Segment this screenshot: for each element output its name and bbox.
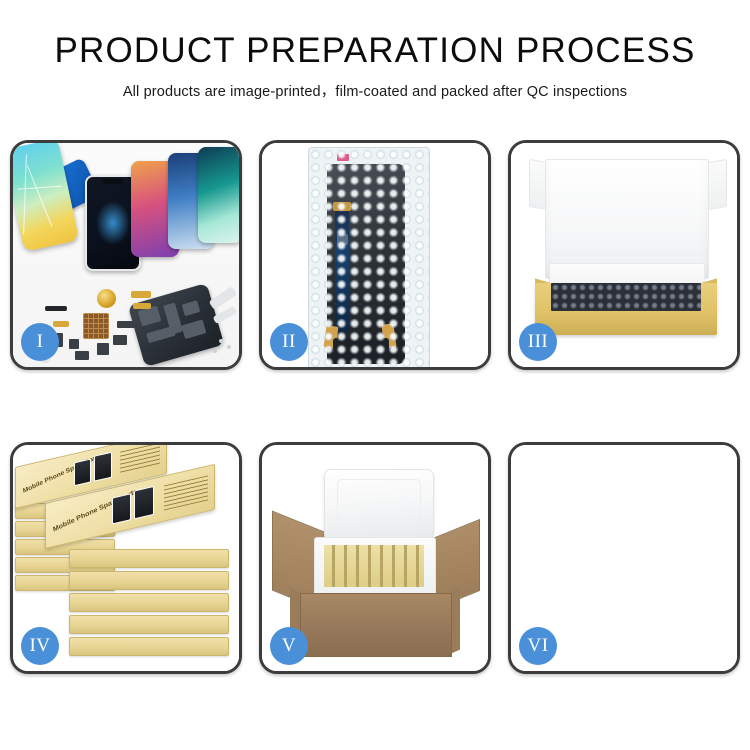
bubble-wrapped-contents [551,283,701,311]
teal-phone-screen [198,147,239,243]
step-badge-3: III [519,323,557,361]
connector-part [69,339,79,349]
box-window-image [74,458,91,486]
box-spec-lines [164,475,208,510]
vibrator-part [97,343,109,355]
step-badge-5: V [270,627,308,665]
bubble-wrap-bag [308,147,430,367]
step-panel-6[interactable]: VI [508,442,740,674]
header: PRODUCT PREPARATION PROCESS All products… [0,30,750,101]
connector-part [113,335,127,345]
kraft-box-edge [69,593,229,612]
box-window-image [112,493,131,524]
carton-front-panel [300,593,452,657]
white-box-lid [545,159,709,279]
chip-grid-part [83,313,109,339]
flex-cable-part [131,291,151,298]
steps-grid: I II [10,140,740,675]
connector-part [117,321,135,328]
kraft-box-edge [69,615,229,634]
kraft-boxes-inside [324,545,424,587]
box-window-image [94,452,112,482]
crack-line [27,166,53,228]
step-badge-1: I [21,323,59,361]
foam-box-lid [324,469,434,541]
step-panel-1[interactable]: I [10,140,242,370]
screw-part [213,349,217,353]
box-window-image [134,486,154,520]
page-title: PRODUCT PREPARATION PROCESS [0,30,750,72]
kraft-box-edge [69,549,229,568]
step-panel-2[interactable]: II [259,140,491,370]
screw-part [227,345,231,349]
camera-part [75,351,89,360]
product-preparation-infographic: PRODUCT PREPARATION PROCESS All products… [0,0,750,750]
box-spec-lines [120,445,160,474]
flex-cable-part [53,321,69,327]
gold-coil-part [97,289,116,308]
step-badge-6: VI [519,627,557,665]
flex-cable-part [133,303,151,309]
step-panel-5[interactable]: V [259,442,491,674]
kraft-box-edge [69,637,229,656]
step-badge-2: II [270,323,308,361]
step-panel-4[interactable]: Mobile Phone Spare Parts Mobile Phone Sp… [10,442,242,674]
kraft-box-edge [69,571,229,590]
screw-part [219,339,223,343]
step-panel-3[interactable]: III [508,140,740,370]
speaker-mesh-part [45,306,67,311]
step-badge-4: IV [21,627,59,665]
bubble-texture [309,148,429,367]
screen-notch [102,179,125,184]
page-subtitle: All products are image-printed，film-coat… [0,80,750,101]
